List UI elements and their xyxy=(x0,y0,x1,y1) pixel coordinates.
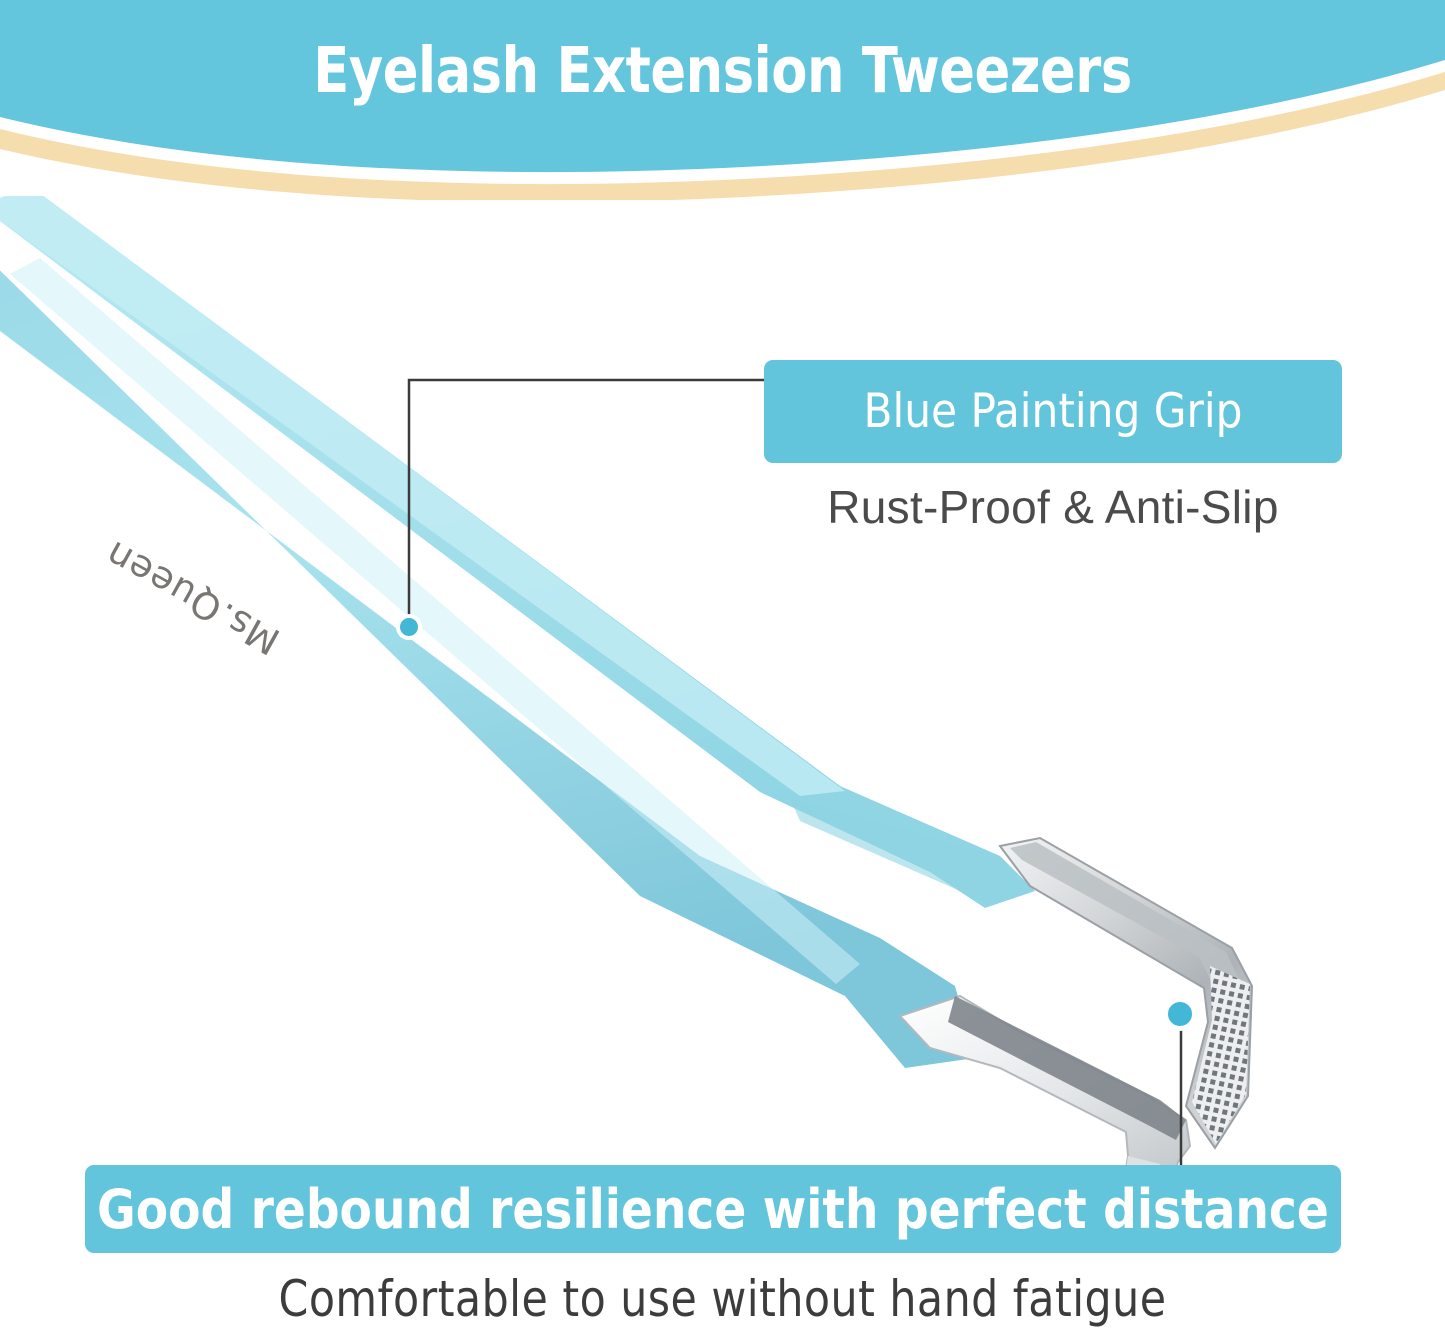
upper-handle-shadow xyxy=(790,798,1035,904)
callout-rebound-box: Good rebound resilience with perfect dis… xyxy=(85,1165,1341,1253)
upper-blade-facet xyxy=(1010,842,1240,988)
infographic-page: Eyelash Extension Tweezers xyxy=(0,0,1445,1328)
tweezer-lower-blade xyxy=(900,996,1190,1176)
product-photo-tweezers: Ms.Queen xyxy=(0,196,1445,1176)
callout-grip-label: Blue Painting Grip xyxy=(863,384,1242,439)
page-title: Eyelash Extension Tweezers xyxy=(51,36,1395,105)
header-banner: Eyelash Extension Tweezers xyxy=(0,0,1445,200)
marker-dot-grip xyxy=(396,614,422,640)
callout-rebound-subtitle: Comfortable to use without hand fatigue xyxy=(36,1270,1409,1328)
marker-dot-tip xyxy=(1163,997,1197,1031)
tweezers-illustration xyxy=(0,196,1445,1176)
upper-handle-highlight xyxy=(0,196,845,796)
lower-handle-highlight xyxy=(10,258,860,984)
callout-grip-box: Blue Painting Grip xyxy=(764,360,1342,463)
lower-blade-edge xyxy=(948,996,1186,1140)
callout-grip-subtitle: Rust-Proof & Anti-Slip xyxy=(764,480,1342,534)
callout-rebound-label: Good rebound resilience with perfect dis… xyxy=(97,1178,1329,1241)
